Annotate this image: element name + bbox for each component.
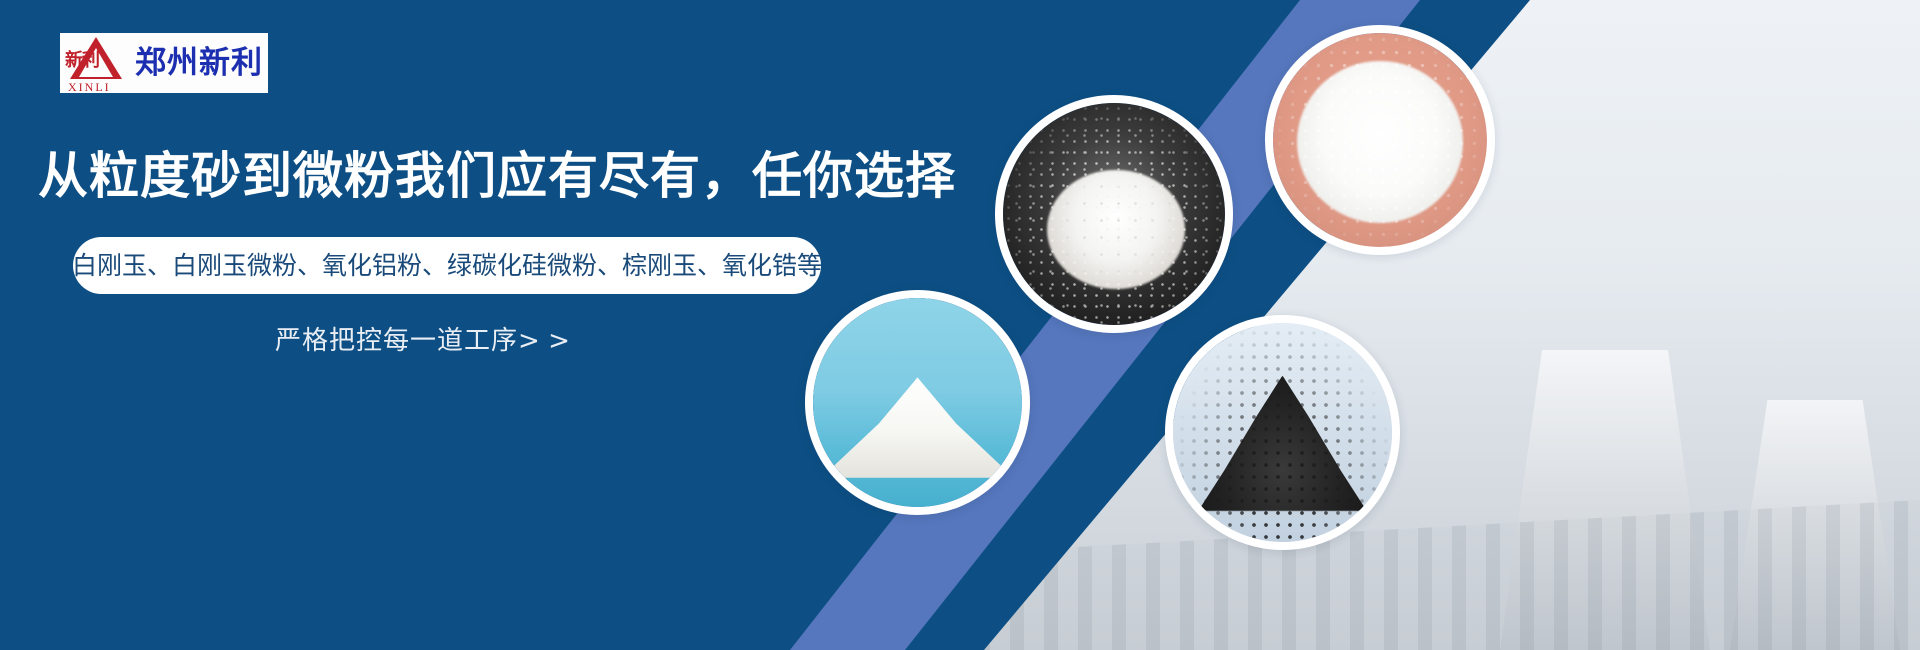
promo-banner: 新利 XINLI 郑州新利 从粒度砂到微粉我们应有尽有，任你选择 白刚玉、白刚玉…: [0, 0, 1920, 650]
product-photo-white-grit[interactable]: [995, 95, 1233, 333]
logo-mark-pinyin: XINLI: [68, 81, 111, 93]
product-list-pill: 白刚玉、白刚玉微粉、氧化铝粉、绿碳化硅微粉、棕刚玉、氧化锆等: [73, 237, 821, 294]
product-photo-alumina-powder[interactable]: [805, 290, 1030, 515]
triangle-logo-icon: 新利 XINLI: [66, 35, 128, 91]
product-grain-texture: [1273, 33, 1487, 247]
arrow-right-icon: > >: [518, 326, 570, 356]
company-logo[interactable]: 新利 XINLI 郑州新利: [60, 33, 268, 93]
logo-mark-chinese: 新利: [65, 52, 99, 70]
product-list-text: 白刚玉、白刚玉微粉、氧化铝粉、绿碳化硅微粉、棕刚玉、氧化锆等: [72, 252, 822, 279]
product-grain-texture: [1173, 323, 1392, 542]
product-photo-white-micropowder[interactable]: [1265, 25, 1495, 255]
product-grain-texture: [1003, 103, 1225, 325]
tagline-link[interactable]: 严格把控每一道工序> >: [275, 326, 570, 356]
product-photo-black-granules[interactable]: [1165, 315, 1400, 550]
tagline-text: 严格把控每一道工序: [275, 326, 518, 356]
headline: 从粒度砂到微粉我们应有尽有，任你选择: [38, 146, 956, 206]
logo-wordmark: 郑州新利: [135, 48, 263, 79]
